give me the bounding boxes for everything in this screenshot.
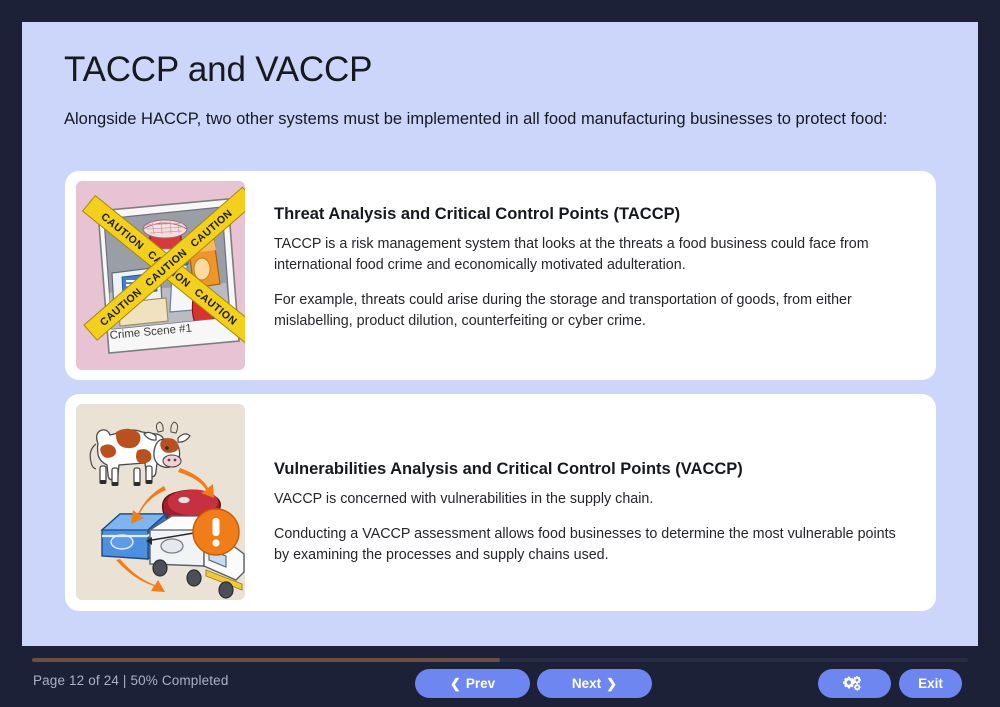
warning-icon-graphic bbox=[193, 509, 239, 555]
next-button-label: Next bbox=[572, 676, 601, 691]
progress-bar-fill bbox=[32, 658, 500, 662]
settings-button[interactable] bbox=[818, 669, 891, 698]
card-vaccp-heading: Vulnerabilities Analysis and Critical Co… bbox=[274, 459, 914, 480]
exit-button-label: Exit bbox=[918, 676, 943, 691]
card-taccp-paragraph-1: TACCP is a risk management system that l… bbox=[274, 234, 914, 275]
course-player: TACCP and VACCP Alongside HACCP, two oth… bbox=[0, 0, 1000, 707]
prev-button[interactable]: ❮ Prev bbox=[415, 669, 530, 698]
chevron-right-icon: ❯ bbox=[606, 677, 617, 690]
prev-button-label: Prev bbox=[466, 676, 495, 691]
gears-icon bbox=[841, 675, 863, 692]
card-vaccp: Vulnerabilities Analysis and Critical Co… bbox=[65, 394, 936, 611]
progress-bar[interactable] bbox=[32, 658, 968, 662]
next-button[interactable]: Next ❯ bbox=[537, 669, 652, 698]
card-taccp-heading: Threat Analysis and Critical Control Poi… bbox=[274, 204, 914, 225]
crime-scene-photo-illustration: CAUTION CAUTION CAUTION CAUTION CAUTION … bbox=[76, 181, 245, 370]
chevron-left-icon: ❮ bbox=[450, 677, 461, 690]
card-taccp-body: Threat Analysis and Critical Control Poi… bbox=[274, 204, 914, 331]
card-vaccp-paragraph-1: VACCP is concerned with vulnerabilities … bbox=[274, 489, 914, 510]
slide-canvas: TACCP and VACCP Alongside HACCP, two oth… bbox=[22, 22, 978, 646]
supply-chain-illustration bbox=[76, 404, 245, 600]
card-taccp: CAUTION CAUTION CAUTION CAUTION CAUTION … bbox=[65, 171, 936, 380]
slide-intro-text: Alongside HACCP, two other systems must … bbox=[64, 108, 904, 132]
card-vaccp-paragraph-2: Conducting a VACCP assessment allows foo… bbox=[274, 524, 914, 565]
exit-button[interactable]: Exit bbox=[899, 669, 962, 698]
page-title: TACCP and VACCP bbox=[64, 50, 372, 90]
player-footer: Page 12 of 24 | 50% Completed ❮ Prev Nex… bbox=[0, 646, 1000, 707]
progress-label: Page 12 of 24 | 50% Completed bbox=[33, 673, 229, 688]
card-taccp-paragraph-2: For example, threats could arise during … bbox=[274, 290, 914, 331]
card-vaccp-body: Vulnerabilities Analysis and Critical Co… bbox=[274, 459, 914, 566]
